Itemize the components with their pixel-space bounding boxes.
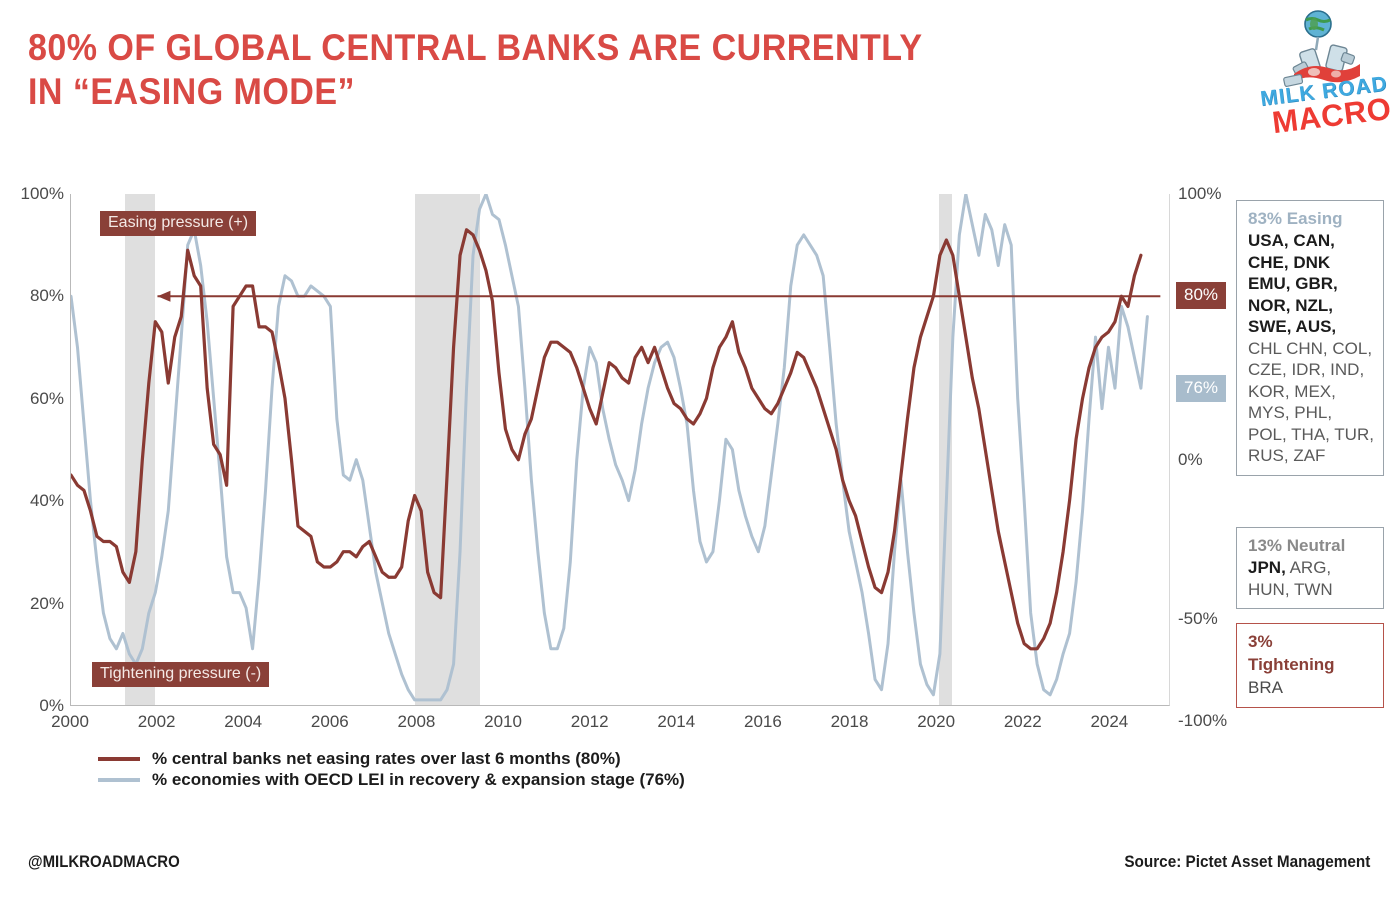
- y-axis-left-tick: 20%: [8, 594, 64, 614]
- lei-value-badge: 76%: [1176, 375, 1226, 402]
- panel-tightening-heading-1: 3%: [1248, 631, 1374, 653]
- panel-easing-bold-codes: USA, CAN, CHE, DNK EMU, GBR, NOR, NZL, S…: [1248, 231, 1338, 336]
- x-axis-tick: 2020: [917, 712, 955, 732]
- panel-easing-heading: 83% Easing: [1248, 208, 1374, 229]
- x-axis-tick: 2016: [744, 712, 782, 732]
- x-axis-tick: 2004: [224, 712, 262, 732]
- x-axis-tick: 2012: [571, 712, 609, 732]
- x-axis-tick: 2018: [831, 712, 869, 732]
- x-axis-tick: 2022: [1004, 712, 1042, 732]
- y-axis-left-tick: 60%: [8, 389, 64, 409]
- panel-tightening-codes: BRA: [1248, 677, 1374, 699]
- panel-easing-codes: USA, CAN, CHE, DNK EMU, GBR, NOR, NZL, S…: [1248, 230, 1374, 467]
- legend-label: % central banks net easing rates over la…: [152, 749, 621, 769]
- y-axis-right-tick: 0%: [1178, 450, 1238, 470]
- footer-handle: @MILKROADMACRO: [28, 852, 180, 872]
- legend-swatch-icon: [98, 757, 140, 761]
- arrow-head-icon: [157, 291, 170, 302]
- x-axis-tick: 2000: [51, 712, 89, 732]
- legend-item: % economies with OECD LEI in recovery & …: [98, 769, 685, 790]
- y-axis-right-tick: 100%: [1178, 184, 1238, 204]
- title-line-2: IN “EASING MODE”: [28, 70, 985, 114]
- y-axis-right-tick: -50%: [1178, 609, 1238, 629]
- panel-easing-plain-codes: CHL CHN, COL, CZE, IDR, IND, KOR, MEX, M…: [1248, 339, 1374, 466]
- panel-neutral-heading: 13% Neutral: [1248, 535, 1374, 556]
- y-axis-left-tick: 40%: [8, 491, 64, 511]
- x-axis-tick: 2006: [311, 712, 349, 732]
- y-axis-left-tick: 80%: [8, 286, 64, 306]
- panel-neutral: 13% Neutral JPN, ARG, HUN, TWN: [1236, 527, 1384, 609]
- page-title: 80% OF GLOBAL CENTRAL BANKS ARE CURRENTL…: [28, 26, 1068, 114]
- panel-tightening: 3% Tightening BRA: [1236, 623, 1384, 708]
- y-axis-right-tick: -100%: [1178, 711, 1238, 731]
- easing-pressure-annotation: Easing pressure (+): [100, 211, 256, 236]
- panel-easing: 83% Easing USA, CAN, CHE, DNK EMU, GBR, …: [1236, 200, 1384, 476]
- plot-frame: [70, 194, 1170, 706]
- y-axis-left-tick: 100%: [8, 184, 64, 204]
- title-line-1: 80% OF GLOBAL CENTRAL BANKS ARE CURRENTL…: [28, 26, 985, 70]
- series-lines: [71, 194, 1169, 705]
- chart-container: 0%20%40%60%80%100% 100%0%-50%-100% 20002…: [70, 194, 1170, 706]
- x-axis-tick: 2024: [1090, 712, 1128, 732]
- x-axis-tick: 2008: [398, 712, 436, 732]
- x-axis-tick: 2014: [657, 712, 695, 732]
- legend-swatch-icon: [98, 778, 140, 782]
- footer-source: Source: Pictet Asset Management: [1124, 852, 1370, 872]
- panel-tightening-heading-2: Tightening: [1248, 654, 1374, 676]
- panel-neutral-codes: JPN, ARG, HUN, TWN: [1248, 557, 1374, 600]
- x-axis-tick: 2002: [138, 712, 176, 732]
- legend-label: % economies with OECD LEI in recovery & …: [152, 770, 685, 790]
- tightening-pressure-annotation: Tightening pressure (-): [92, 662, 269, 687]
- x-axis-tick: 2010: [484, 712, 522, 732]
- legend-item: % central banks net easing rates over la…: [98, 748, 685, 769]
- milk-road-macro-logo: MILK ROAD MACRO: [1254, 6, 1382, 134]
- panel-neutral-bold-codes: JPN,: [1248, 558, 1286, 577]
- easing-value-badge: 80%: [1176, 282, 1226, 309]
- chart-legend: % central banks net easing rates over la…: [98, 748, 685, 790]
